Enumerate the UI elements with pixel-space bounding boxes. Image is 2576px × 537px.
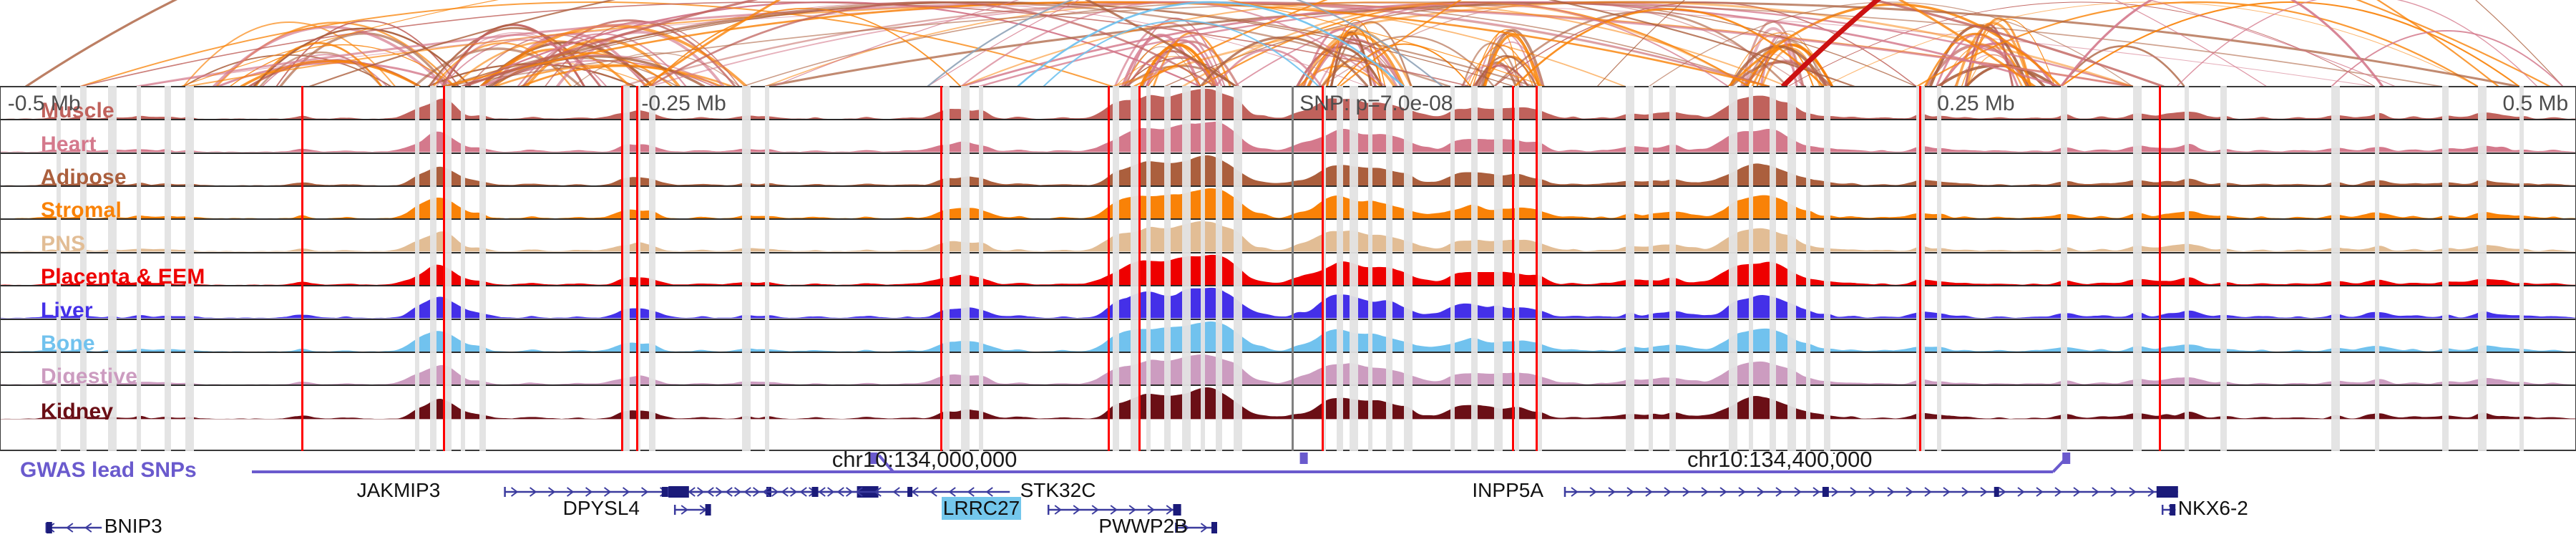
- gwas-lead-snp-marker[interactable]: [1300, 453, 1308, 464]
- gene-label-JAKMIP3[interactable]: JAKMIP3: [357, 479, 441, 502]
- signal-area: [1, 288, 2575, 318]
- gene-exon: [1173, 504, 1181, 516]
- gene-label-INPP5A[interactable]: INPP5A: [1472, 479, 1543, 502]
- genome-browser-figure: MuscleHeartAdiposeStromalPNSPlacenta & E…: [0, 0, 2576, 537]
- signal-area: [1, 122, 2575, 152]
- signal-area: [1, 221, 2575, 251]
- track-label-pns: PNS: [41, 233, 85, 253]
- track-label-heart: Heart: [41, 134, 97, 154]
- track-signal-liver: [1, 286, 2575, 318]
- gene-label-BNIP3[interactable]: BNIP3: [104, 515, 162, 537]
- gene-exon: [1211, 522, 1217, 533]
- track-signal-kidney: [1, 386, 2575, 419]
- gene-label-STK32C[interactable]: STK32C: [1020, 479, 1096, 502]
- track-signal-stromal: [1, 187, 2575, 218]
- track-placenta-eem[interactable]: Placenta & EEM: [1, 253, 2575, 286]
- interaction-arc: [479, 2, 1368, 86]
- gene-label-PWWP2B[interactable]: PWWP2B: [1098, 515, 1187, 537]
- track-label-placenta-eem: Placenta & EEM: [41, 266, 205, 286]
- gene-annotation-panel: GWAS lead SNPschr10:134,000,000chr10:134…: [0, 453, 2576, 537]
- gwas-lead-snp-marker[interactable]: [2062, 453, 2070, 464]
- track-adipose[interactable]: Adipose: [1, 154, 2575, 187]
- interaction-arc: [1494, 2, 1916, 86]
- gene-exon: [2157, 486, 2178, 498]
- track-signal-digestive: [1, 353, 2575, 384]
- track-label-digestive: Digestive: [41, 366, 137, 386]
- gwas-lead-snps-label: GWAS lead SNPs: [20, 458, 197, 483]
- track-pns[interactable]: PNS: [1, 220, 2575, 253]
- gene-exon: [907, 487, 912, 497]
- interaction-arc: [2061, 0, 2383, 86]
- arc-svg: [0, 0, 2576, 86]
- signal-area: [1, 89, 2575, 119]
- gene-exon: [812, 487, 819, 497]
- track-signal-pns: [1, 220, 2575, 251]
- signal-area: [1, 387, 2575, 419]
- signal-area: [1, 354, 2575, 384]
- gene-label-LRRC27[interactable]: LRRC27: [942, 497, 1021, 520]
- gene-exon: [706, 504, 711, 516]
- genome-coordinate-label: chr10:134,400,000: [1687, 447, 1873, 473]
- gene-label-NKX6-2[interactable]: NKX6-2: [2178, 497, 2248, 520]
- track-label-muscle: Muscle: [41, 100, 114, 120]
- signal-area: [1, 321, 2575, 351]
- gene-label-DPYSL4[interactable]: DPYSL4: [563, 497, 640, 520]
- gene-exon: [662, 487, 668, 497]
- signal-area: [1, 188, 2575, 218]
- track-stromal[interactable]: Stromal: [1, 187, 2575, 220]
- track-signal-placenta-eem: [1, 253, 2575, 285]
- gene-exon: [668, 486, 689, 498]
- track-liver[interactable]: Liver: [1, 286, 2575, 319]
- genome-coordinate-label: chr10:134,000,000: [832, 447, 1018, 473]
- interaction-arc: [773, 0, 2396, 86]
- track-bone[interactable]: Bone: [1, 320, 2575, 353]
- track-heart[interactable]: Heart: [1, 120, 2575, 153]
- track-muscle[interactable]: Muscle: [1, 87, 2575, 120]
- interaction-arc: [443, 2, 1770, 86]
- gene-exon: [2170, 504, 2175, 516]
- track-label-liver: Liver: [41, 300, 93, 320]
- interaction-arc: [26, 0, 1236, 86]
- track-label-bone: Bone: [41, 333, 95, 353]
- track-signal-muscle: [1, 87, 2575, 119]
- track-digestive[interactable]: Digestive: [1, 353, 2575, 386]
- track-label-kidney: Kidney: [41, 401, 113, 420]
- gene-exon: [47, 522, 52, 533]
- track-kidney[interactable]: Kidney: [1, 386, 2575, 419]
- signal-track-stack: MuscleHeartAdiposeStromalPNSPlacenta & E…: [0, 86, 2576, 451]
- gene-exon: [1994, 487, 1999, 497]
- signal-area: [1, 155, 2575, 185]
- track-label-adipose: Adipose: [41, 167, 127, 187]
- track-signal-heart: [1, 120, 2575, 152]
- gene-exon: [1823, 487, 1829, 497]
- chromatin-arc-panel: [0, 0, 2576, 86]
- track-label-stromal: Stromal: [41, 200, 122, 220]
- signal-area: [1, 255, 2575, 285]
- track-signal-adipose: [1, 154, 2575, 185]
- track-signal-bone: [1, 320, 2575, 352]
